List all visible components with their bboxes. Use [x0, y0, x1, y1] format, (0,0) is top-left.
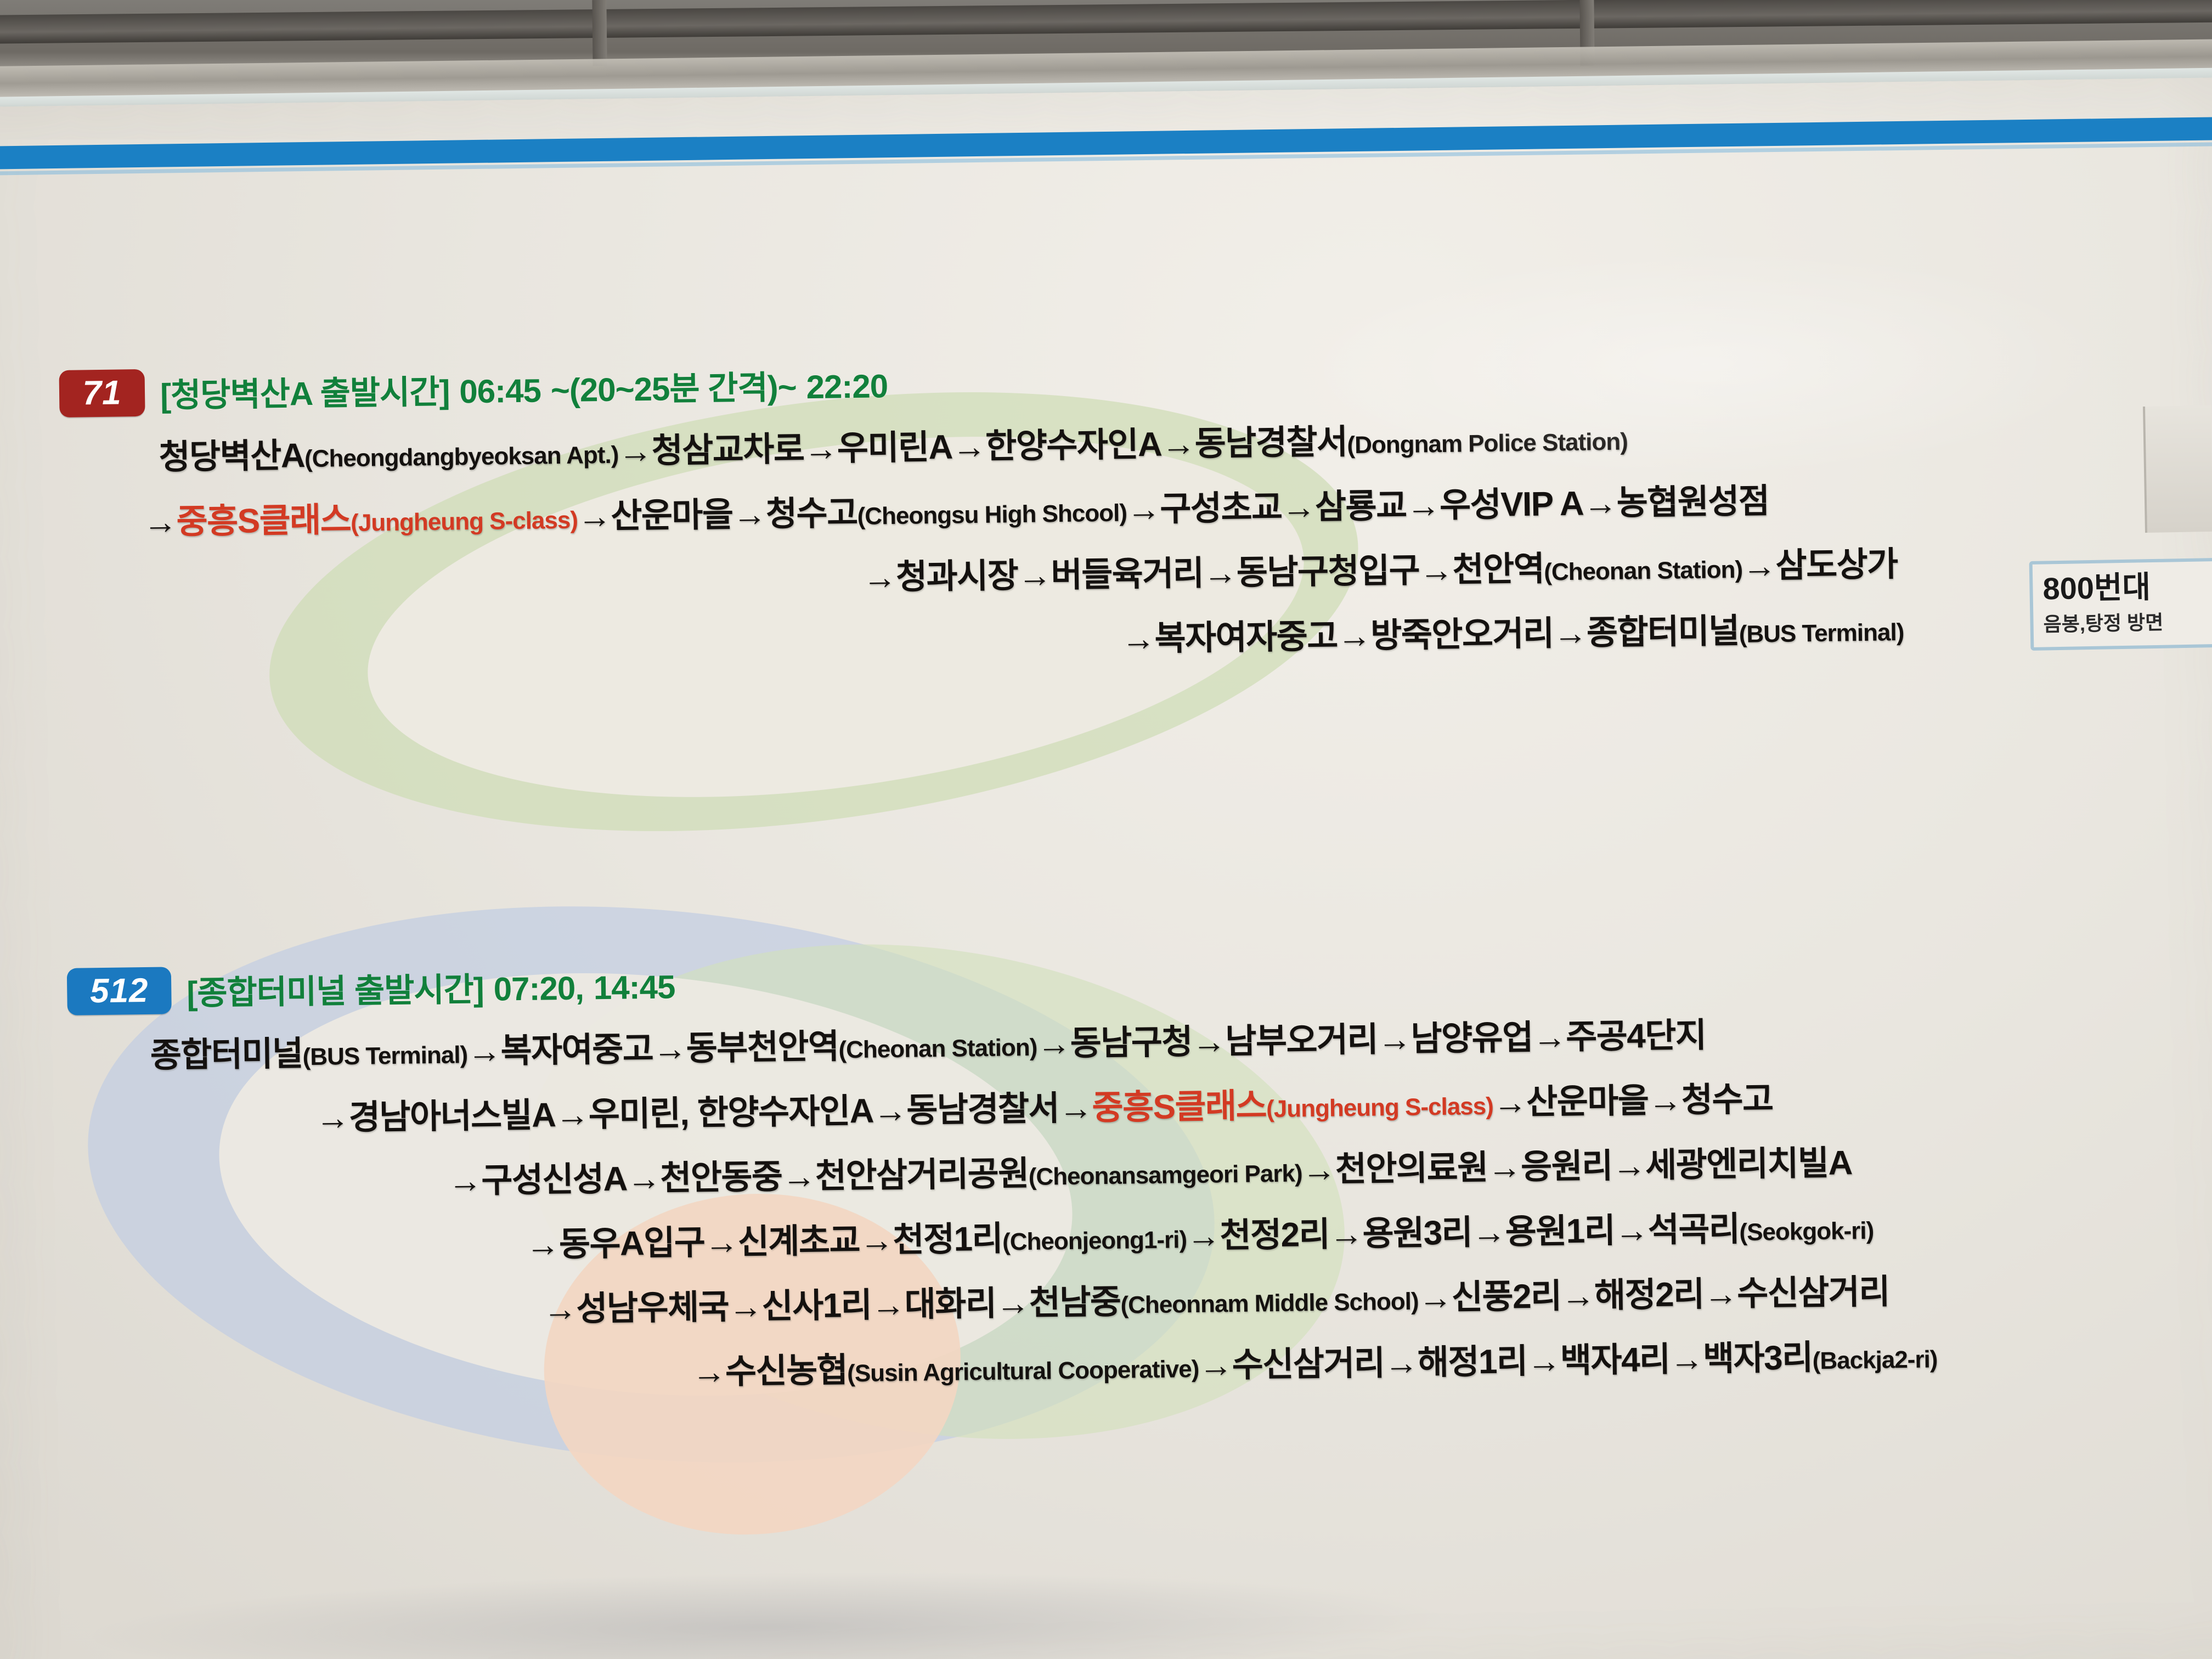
route-arrow-icon: → [1378, 1020, 1411, 1059]
stop-name: 버들육거리 [1051, 555, 1204, 595]
route-arrow-icon: → [860, 1221, 893, 1260]
route-arrow-icon: → [1126, 490, 1160, 529]
stop-name-ko: 산운마을 [611, 496, 733, 535]
stop-name-ko: 용원1리 [1505, 1212, 1615, 1251]
route-arrow-icon: → [1406, 487, 1440, 525]
route-arrow-icon: → [1018, 556, 1051, 595]
stop-name-ko: 산운마을 [1526, 1082, 1649, 1121]
stop-name-ko: 동남경찰서 [906, 1090, 1059, 1130]
route-arrow-icon: → [1615, 1211, 1648, 1250]
route-arrow-icon: → [1742, 547, 1776, 585]
stop-name-ko: 대화리 [904, 1285, 996, 1324]
route-71-stop-lines: 청당벽산A(Cheongdangbyeoksan Apt.)→청삼교차로→우미린… [0, 400, 2212, 689]
stop-name: 신풍2리 [1452, 1277, 1561, 1317]
route-arrow-icon: → [1419, 551, 1453, 590]
route-block-512: 512 [종합터미널 출발시간]07:20,14:45 종합터미널(BUS Te… [0, 933, 2212, 1416]
route-arrow-icon: → [804, 430, 837, 468]
stop-name: 용원3리 [1362, 1214, 1472, 1253]
stop-name-ko: 종합터미널 [150, 1035, 303, 1075]
route-arrow-icon: → [732, 495, 766, 534]
route-arrow-icon: → [315, 1099, 349, 1137]
stop-name-ko: 청수고 [766, 494, 858, 533]
ceiling-beam [0, 0, 2212, 44]
stop-name: 천안역(Cheonan Station) [1452, 548, 1742, 589]
stop-name: 용원1리 [1505, 1212, 1615, 1251]
route-arrow-icon: → [1192, 1023, 1225, 1061]
route-arrow-icon: → [1553, 614, 1587, 653]
stop-name-en: (Cheonan Station) [1544, 556, 1742, 586]
route-arrow-icon: → [1472, 1214, 1505, 1252]
stop-name-ko: 구성초교 [1160, 489, 1282, 528]
highlighted-stop: 중흥S클래스(Jungheung S-class) [1092, 1084, 1493, 1127]
route-arrow-icon: → [577, 498, 611, 536]
stop-name-ko: 청과시장 [896, 557, 1018, 596]
stop-name-en: (BUS Terminal) [1739, 619, 1904, 648]
stop-name: 청수고(Cheongsu High Shcool) [766, 491, 1127, 534]
route-arrow-icon: → [1059, 1089, 1092, 1127]
stop-name-ko: 수신삼거리 [1737, 1273, 1890, 1313]
route-arrow-icon: → [1302, 1151, 1335, 1189]
stop-name-ko: 천정1리 [893, 1220, 1002, 1260]
stop-name: 수신삼거리 [1737, 1273, 1890, 1313]
route-512-header-text: [종합터미널 출발시간]07:20,14:45 [187, 960, 675, 1014]
stop-name: 해정1리 [1417, 1342, 1527, 1382]
stop-name: 우성VIP A [1440, 485, 1584, 524]
stop-name: 복자여중고 [500, 1030, 653, 1070]
stop-name: 천정2리 [1220, 1216, 1329, 1255]
stop-name-ko: 신계초교 [737, 1222, 860, 1261]
route-arrow-icon: → [1583, 484, 1617, 523]
stop-name-ko: 수신삼거리 [1232, 1344, 1385, 1384]
route-arrow-icon: → [1199, 1346, 1232, 1385]
stop-name: 방죽안오거리 [1370, 614, 1554, 654]
stop-name-ko: 삼룡교 [1315, 487, 1407, 526]
stop-name-ko: 천안삼거리공원 [815, 1155, 1029, 1195]
route-arrow-icon: → [143, 503, 177, 541]
stop-name-ko: 우미린A [837, 428, 952, 468]
stop-name: 신사1리 [761, 1286, 871, 1326]
route-arrow-icon: → [1037, 1025, 1070, 1063]
stop-name-ko: 동부천안역 [686, 1028, 839, 1068]
stop-name: 청삼교차로 [651, 430, 804, 470]
route-arrow-icon: → [871, 1286, 905, 1324]
stop-name-en: (Cheonnam Middle School) [1120, 1288, 1419, 1319]
stop-name-ko: 백자3리 [1703, 1339, 1813, 1378]
highlighted-stop: 중흥S클래스(Jungheung S-class) [176, 498, 578, 541]
stop-name-ko: 버들육거리 [1051, 555, 1204, 595]
stop-name-ko: 응원리 [1521, 1147, 1613, 1186]
route-arrow-icon: → [704, 1223, 738, 1262]
route-arrow-icon: → [448, 1162, 481, 1200]
stop-name-ko: 중흥S클래스 [176, 501, 351, 541]
stop-name-ko: 구성신성A [481, 1160, 627, 1200]
route-512-first-time: 07:20, [493, 969, 584, 1007]
route-arrow-icon: → [1669, 1340, 1703, 1379]
stop-name: 청당벽산A(Cheongdangbyeoksan Apt.) [159, 433, 619, 477]
stop-name: 우미린A [837, 428, 952, 468]
stop-name-ko: 삼도상가 [1775, 545, 1898, 585]
stop-name-ko: 신사1리 [761, 1286, 871, 1326]
stop-name: 수신농협(Susin Agricultural Cooperative) [725, 1347, 1199, 1391]
stop-name-ko: 농협원성점 [1616, 482, 1769, 522]
route-71-first-time: 06:45 [459, 372, 541, 410]
adjacent-route-800-title: 800번대 [2042, 570, 2208, 605]
route-71-header-text: [청당벽산A 출발시간]06:45~(20~25분 간격)~22:20 [160, 359, 888, 416]
route-arrow-icon: → [555, 1096, 589, 1134]
board-accent-stripe [0, 117, 2212, 170]
route-arrow-icon: → [1487, 1148, 1521, 1187]
stop-name-ko: 경남아너스빌A [348, 1096, 555, 1137]
board-shadow-smudge [80, 1564, 1453, 1659]
stop-name: 응원리 [1521, 1147, 1613, 1186]
stop-name: 동남경찰서 [906, 1090, 1059, 1130]
route-arrow-icon: → [1612, 1147, 1645, 1185]
stop-name-ko: 우미린, 한양수자인A [588, 1092, 873, 1134]
stop-name-ko: 백자4리 [1560, 1341, 1670, 1380]
route-arrow-icon: → [952, 428, 985, 466]
stop-name-en: (Cheonan Station) [838, 1034, 1037, 1064]
route-arrow-icon: → [1532, 1018, 1566, 1057]
stop-name-en: (Cheonansamgeori Park) [1028, 1160, 1302, 1190]
adjacent-sign-tab [2143, 405, 2212, 533]
route-arrow-icon: → [1203, 554, 1237, 592]
stop-name-ko: 천정2리 [1220, 1216, 1329, 1255]
route-arrow-icon: → [1648, 1081, 1681, 1120]
stop-name-ko: 천안의료원 [1335, 1149, 1488, 1189]
stop-name: 동남경찰서(Dongnam Police Station) [1194, 420, 1628, 463]
route-512-stop-lines: 종합터미널(BUS Terminal)→복자여중고→동부천안역(Cheonan … [0, 998, 2212, 1416]
stop-name: 백자4리 [1560, 1341, 1670, 1380]
stop-name-en: (Cheongsu High Shcool) [857, 499, 1127, 529]
stop-name-en: (Cheonjeong1-ri) [1002, 1226, 1187, 1255]
stop-name-ko: 우성VIP A [1440, 485, 1584, 524]
stop-name-en: (Dongnam Police Station) [1347, 428, 1628, 459]
route-71-interval: ~(20~25분 간격)~ [550, 369, 797, 409]
stop-name-ko: 동남구청입구 [1236, 552, 1419, 592]
route-block-71: 71 [청당벽산A 출발시간]06:45~(20~25분 간격)~22:20 청… [0, 335, 2212, 689]
stop-name-ko: 세광엔리치빌A [1645, 1144, 1852, 1184]
stop-name-ko: 남양유업 [1410, 1019, 1533, 1058]
stop-name: 농협원성점 [1616, 482, 1769, 522]
stop-name-en: (Jungheung S-class) [1266, 1093, 1493, 1122]
stop-name-ko: 동우A입구 [558, 1224, 704, 1263]
stop-name: 청과시장 [896, 557, 1018, 596]
stop-name-ko: 한양수자인A [985, 426, 1162, 466]
route-arrow-icon: → [1282, 488, 1315, 527]
stop-name: 우미린, 한양수자인A [588, 1092, 873, 1134]
stop-name-en: (Cheongdangbyeoksan Apt.) [304, 442, 619, 472]
route-number-badge-71: 71 [59, 369, 145, 417]
route-number-badge-512: 512 [67, 967, 172, 1015]
stop-name-en: (Susin Agricultural Cooperative) [847, 1356, 1199, 1387]
stop-name-ko: 방죽안오거리 [1370, 614, 1554, 654]
stop-name-ko: 복자여자중고 [1154, 617, 1338, 657]
route-arrow-icon: → [1384, 1344, 1418, 1383]
route-71-origin-label: [청당벽산A 출발시간] [160, 373, 450, 414]
stop-name: 천남중(Cheonnam Middle School) [1029, 1279, 1419, 1322]
screenshot-root: 71 [청당벽산A 출발시간]06:45~(20~25분 간격)~22:20 청… [0, 0, 2212, 1659]
stop-name: 남양유업 [1410, 1019, 1533, 1058]
route-arrow-icon: → [1187, 1217, 1220, 1255]
route-512-last-time: 14:45 [593, 968, 675, 1006]
stop-name: 종합터미널(BUS Terminal) [1587, 610, 1904, 652]
stop-name-ko: 천안동중 [660, 1158, 782, 1198]
stop-name: 천정1리(Cheonjeong1-ri) [893, 1217, 1187, 1259]
route-512-origin-label: [종합터미널 출발시간] [187, 970, 484, 1011]
stop-name: 종합터미널(BUS Terminal) [150, 1032, 467, 1075]
stop-name: 삼도상가 [1775, 545, 1898, 585]
stop-name: 천안동중 [660, 1158, 782, 1198]
adjacent-route-800-subtitle: 음봉,탕정 방면 [2043, 606, 2208, 637]
route-arrow-icon: → [1527, 1342, 1560, 1380]
route-arrow-icon: → [1703, 1275, 1737, 1313]
stop-name-ko: 주공4단지 [1566, 1017, 1706, 1056]
stop-name: 구성초교 [1160, 489, 1282, 528]
stop-name: 동남구청입구 [1236, 552, 1419, 592]
route-arrow-icon: → [653, 1030, 686, 1068]
stop-name: 산운마을 [1526, 1082, 1649, 1121]
stop-name-en: (Seokgok-ri) [1739, 1217, 1874, 1246]
stop-name: 세광엔리치빌A [1645, 1144, 1852, 1184]
stop-name-ko: 수신농협 [725, 1351, 848, 1391]
stop-name: 구성신성A [481, 1160, 627, 1200]
route-arrow-icon: → [1337, 617, 1370, 656]
route-arrow-icon: → [996, 1284, 1029, 1323]
stop-name: 청수고 [1681, 1080, 1773, 1119]
stop-name-ko: 청수고 [1681, 1080, 1773, 1119]
stop-name: 성남우체국 [576, 1288, 729, 1328]
route-arrow-icon: → [1329, 1215, 1363, 1254]
stop-name-ko: 성남우체국 [576, 1288, 729, 1328]
stop-name-ko: 용원3리 [1362, 1214, 1472, 1253]
stop-name: 남부오거리 [1225, 1021, 1378, 1061]
stop-name: 해정2리 [1594, 1276, 1704, 1315]
stop-name: 산운마을 [611, 496, 733, 535]
stop-name: 동남구청 [1070, 1023, 1192, 1063]
stop-name-ko: 해정2리 [1594, 1276, 1704, 1315]
stop-name-en: (Jungheung S-class) [351, 507, 578, 537]
stop-name: 수신삼거리 [1232, 1344, 1385, 1384]
stop-name: 신계초교 [737, 1222, 860, 1261]
stop-name: 주공4단지 [1566, 1017, 1706, 1056]
stop-name-ko: 청당벽산A [159, 437, 304, 476]
stop-name: 백자3리(Backja2-ri) [1703, 1337, 1938, 1378]
stop-name-ko: 해정1리 [1417, 1342, 1527, 1382]
stop-name-ko: 종합터미널 [1587, 612, 1740, 652]
stop-name-en: (Backja2-ri) [1812, 1346, 1937, 1374]
stop-name-ko: 복자여중고 [500, 1030, 653, 1070]
route-arrow-icon: → [627, 1160, 660, 1198]
route-arrow-icon: → [1121, 620, 1155, 658]
route-arrow-icon: → [1493, 1084, 1526, 1122]
route-arrow-icon: → [873, 1092, 906, 1130]
route-arrow-icon: → [782, 1158, 815, 1196]
stop-name: 경남아너스빌A [348, 1096, 555, 1137]
stop-name-ko: 천남중 [1029, 1283, 1121, 1322]
stop-name-ko: 천안역 [1452, 550, 1544, 589]
bus-route-board: 71 [청당벽산A 출발시간]06:45~(20~25분 간격)~22:20 청… [0, 77, 2212, 1659]
stop-name: 석곡리(Seokgok-ri) [1647, 1209, 1874, 1249]
stop-name-ko: 청삼교차로 [651, 430, 804, 470]
stop-name: 동부천안역(Cheonan Station) [686, 1025, 1037, 1068]
stop-name-ko: 중흥S클래스 [1092, 1087, 1266, 1127]
route-arrow-icon: → [543, 1290, 577, 1329]
stop-name: 대화리 [904, 1285, 996, 1324]
route-arrow-icon: → [1161, 425, 1195, 464]
route-arrow-icon: → [467, 1032, 501, 1071]
stop-name-ko: 석곡리 [1647, 1210, 1740, 1249]
stop-name: 복자여자중고 [1154, 617, 1338, 657]
stop-name-ko: 동남경찰서 [1194, 423, 1347, 463]
route-arrow-icon: → [862, 558, 896, 597]
ceiling-bracket-left [592, 0, 607, 66]
stop-name: 천안의료원 [1335, 1149, 1488, 1189]
stop-name-ko: 남부오거리 [1225, 1021, 1378, 1061]
stop-name-ko: 신풍2리 [1452, 1277, 1561, 1317]
stop-name-en: (BUS Terminal) [302, 1041, 467, 1070]
stop-name: 천안삼거리공원(Cheonansamgeori Park) [815, 1151, 1302, 1195]
route-arrow-icon: → [1561, 1277, 1594, 1315]
route-arrow-icon: → [1418, 1279, 1452, 1317]
route-arrow-icon: → [526, 1226, 559, 1264]
route-arrow-icon: → [618, 432, 652, 471]
stop-name: 동우A입구 [558, 1224, 704, 1263]
route-arrow-icon: → [692, 1353, 725, 1391]
stop-name-ko: 동남구청 [1070, 1023, 1192, 1063]
route-71-last-time: 22:20 [806, 368, 888, 405]
adjacent-route-800-placard: 800번대 음봉,탕정 방면 [2029, 558, 2212, 651]
route-arrow-icon: → [729, 1288, 762, 1326]
stop-name: 한양수자인A [985, 426, 1162, 466]
stop-name: 삼룡교 [1315, 487, 1407, 526]
